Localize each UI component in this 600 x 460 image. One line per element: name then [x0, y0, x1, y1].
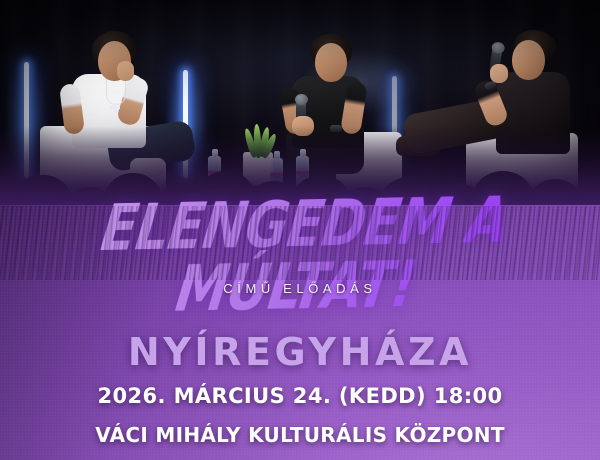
- city-name: NYÍREGYHÁZA: [0, 330, 600, 374]
- show-subtitle: CÍMŰ ELŐADÁS: [0, 281, 600, 296]
- person-right-head: [512, 40, 545, 80]
- show-title: ELENGEDEM A MÚLTAT!: [0, 189, 600, 326]
- person-right-torso: [496, 72, 570, 154]
- person-center-hand: [292, 116, 314, 136]
- event-venue: VÁCI MIHÁLY KULTURÁLIS KÖZPONT: [0, 423, 600, 447]
- wristwatch: [330, 125, 342, 132]
- person-left-hand: [117, 61, 134, 81]
- cross-pendant-icon: [113, 103, 117, 112]
- necklace-chain: [106, 78, 126, 105]
- person-center-head: [315, 43, 347, 82]
- event-poster: ELENGEDEM A MÚLTAT! CÍMŰ ELŐADÁS NYÍREGY…: [0, 0, 600, 460]
- event-date: 2026. MÁRCIUS 24. (KEDD) 18:00: [0, 384, 600, 408]
- stage-photo: [0, 0, 600, 205]
- person-right-hand: [490, 64, 508, 83]
